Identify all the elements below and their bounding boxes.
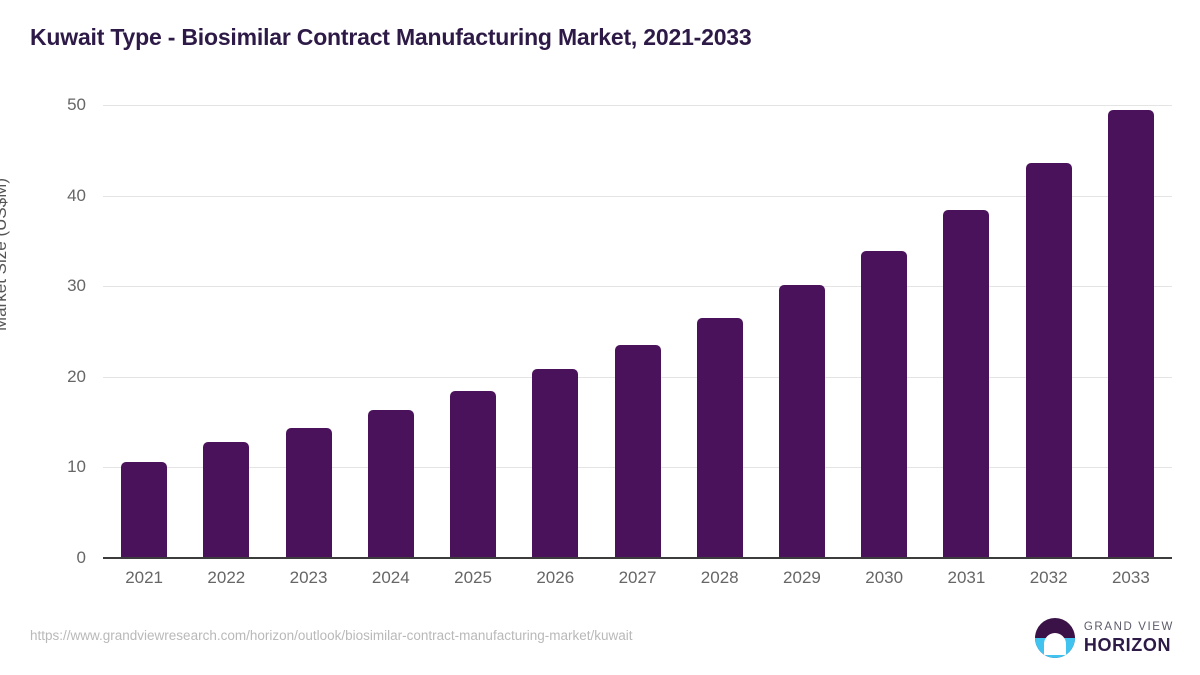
bar[interactable] xyxy=(615,345,661,558)
bar[interactable] xyxy=(1108,110,1154,558)
grand-view-horizon-logo: GRAND VIEW HORIZON xyxy=(1035,618,1174,658)
horizon-sun-icon xyxy=(1035,618,1075,658)
x-axis-tick-label: 2026 xyxy=(510,568,600,588)
y-axis-tick-label: 50 xyxy=(26,95,86,115)
x-axis-tick-label: 2031 xyxy=(921,568,1011,588)
y-axis-title: Market Size (US$M) xyxy=(0,178,11,331)
x-axis-tick-label: 2022 xyxy=(181,568,271,588)
source-url[interactable]: https://www.grandviewresearch.com/horizo… xyxy=(30,628,633,643)
y-axis-tick-label: 20 xyxy=(26,367,86,387)
x-axis-tick-label: 2021 xyxy=(99,568,189,588)
logo-line-lower xyxy=(1049,649,1060,652)
bar[interactable] xyxy=(943,210,989,558)
bar[interactable] xyxy=(1026,163,1072,558)
x-axis-tick-label: 2032 xyxy=(1004,568,1094,588)
y-axis-tick-label: 30 xyxy=(26,276,86,296)
x-axis-tick-label: 2030 xyxy=(839,568,929,588)
page-title: Kuwait Type - Biosimilar Contract Manufa… xyxy=(30,24,751,51)
bar[interactable] xyxy=(450,391,496,558)
logo-text-grand-view: GRAND VIEW xyxy=(1084,622,1174,634)
x-axis-tick-label: 2033 xyxy=(1086,568,1176,588)
plot-area xyxy=(103,105,1172,558)
x-axis-tick-label: 2028 xyxy=(675,568,765,588)
x-axis-line xyxy=(103,557,1172,559)
bar[interactable] xyxy=(779,285,825,558)
bar[interactable] xyxy=(697,318,743,558)
bar[interactable] xyxy=(121,462,167,558)
y-axis-tick-label: 0 xyxy=(26,548,86,568)
x-axis-tick-label: 2024 xyxy=(346,568,436,588)
x-axis-tick-label: 2027 xyxy=(593,568,683,588)
logo-text-horizon: HORIZON xyxy=(1084,636,1174,654)
chart-card: Kuwait Type - Biosimilar Contract Manufa… xyxy=(0,0,1200,675)
bar-series xyxy=(103,105,1172,558)
bar[interactable] xyxy=(368,410,414,558)
x-axis-tick-label: 2029 xyxy=(757,568,847,588)
x-axis-tick-label: 2023 xyxy=(264,568,354,588)
logo-line-upper xyxy=(1046,644,1063,647)
y-axis-tick-label: 10 xyxy=(26,457,86,477)
x-axis-tick-label: 2025 xyxy=(428,568,518,588)
bar[interactable] xyxy=(203,442,249,558)
y-axis-tick-label: 40 xyxy=(26,186,86,206)
logo-wordmark: GRAND VIEW HORIZON xyxy=(1084,622,1174,655)
bar[interactable] xyxy=(286,428,332,558)
bar[interactable] xyxy=(861,251,907,558)
bar[interactable] xyxy=(532,369,578,558)
